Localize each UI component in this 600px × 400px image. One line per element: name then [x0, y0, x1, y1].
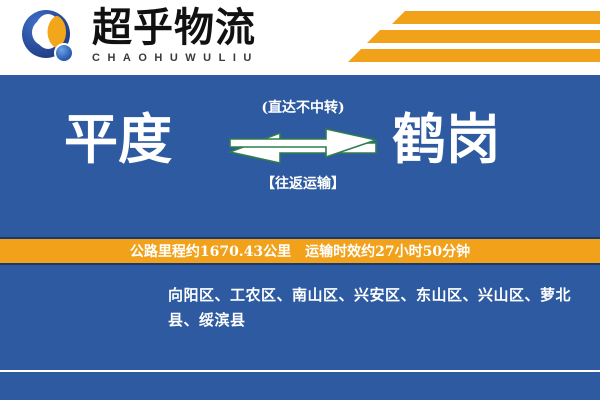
stripe-2 [367, 30, 600, 43]
banner-header: 超乎物流 CHAOHUWULIU [0, 0, 600, 75]
round-trip-label: 【往返运输】 [228, 175, 378, 193]
brand-name-en: CHAOHUWULIU [92, 52, 259, 64]
coverage-districts-text: 向阳区、工农区、南山区、兴安区、东山区、兴山区、萝北县、绥滨县 [168, 283, 584, 333]
coverage-section: 向阳区、工农区、南山区、兴安区、东山区、兴山区、萝北县、绥滨县 [0, 265, 600, 400]
route-section: 平度 (直达不中转) 【往返运输】 鹤岗 [0, 75, 600, 237]
chaohu-logo-icon [22, 10, 80, 66]
distance-text: 公路里程约1670.43公里 [130, 241, 291, 261]
brand-block: 超乎物流 CHAOHUWULIU [92, 6, 259, 64]
stripe-3 [348, 49, 600, 62]
brand-name-cn: 超乎物流 [92, 6, 259, 50]
stripe-1 [392, 11, 600, 24]
header-stripes-graphic [350, 0, 600, 75]
direct-shipping-label: (直达不中转) [228, 99, 378, 117]
logistics-route-banner: 超乎物流 CHAOHUWULIU 平度 (直达不中转) 【往返运输】 鹤岗 公路… [0, 0, 600, 400]
bidirectional-arrow-icon [228, 127, 378, 167]
route-arrow-block: (直达不中转) 【往返运输】 [228, 99, 378, 219]
logo-dot-icon [54, 43, 74, 63]
origin-city: 平度 [64, 109, 172, 169]
duration-text: 运输时效约27小时50分钟 [305, 241, 470, 261]
destination-city: 鹤岗 [392, 109, 500, 169]
route-info-bar: 公路里程约1670.43公里 运输时效约27小时50分钟 [0, 237, 600, 265]
footer-divider [0, 370, 600, 372]
